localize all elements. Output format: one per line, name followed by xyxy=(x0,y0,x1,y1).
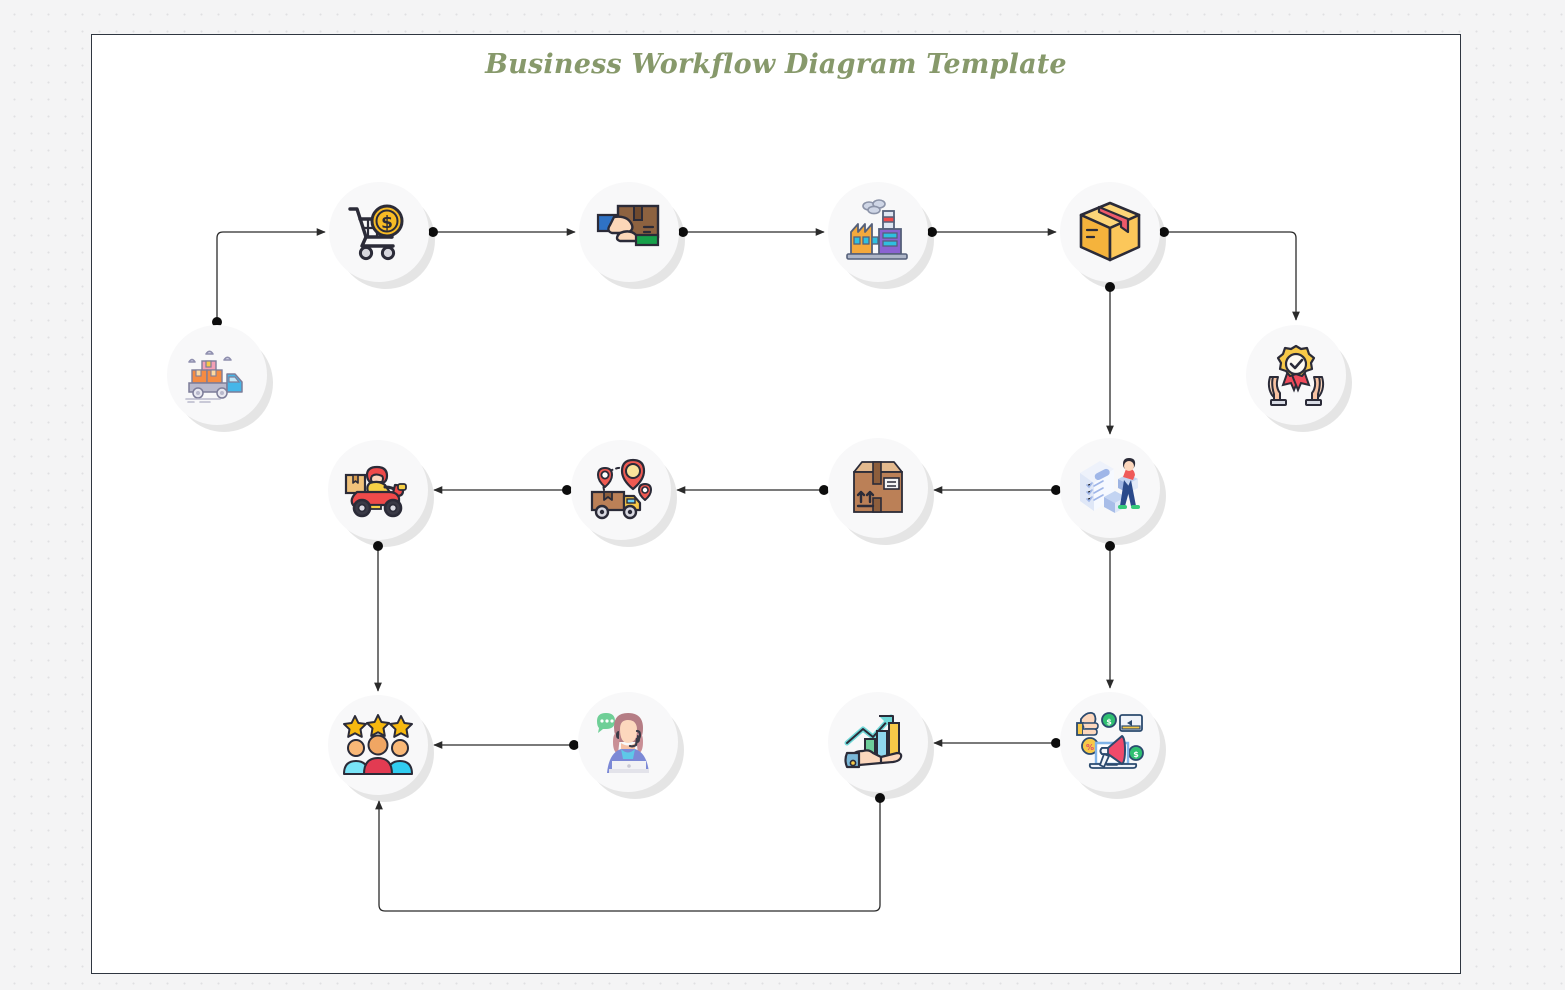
node-quality-assurance[interactable] xyxy=(1246,325,1346,425)
inventory-checklist-icon xyxy=(1074,455,1146,521)
node-route-tracking[interactable] xyxy=(571,440,671,540)
support-agent-headset-icon xyxy=(593,711,663,773)
hands-exchanging-package-icon xyxy=(596,203,662,261)
diagram-canvas: Business Workflow Diagram Template xyxy=(91,34,1461,974)
factory-icon xyxy=(843,199,913,265)
shipping-box-brown-icon xyxy=(846,458,910,518)
node-inventory-management[interactable] xyxy=(1060,438,1160,538)
svg-text:$: $ xyxy=(1106,718,1112,727)
node-digital-marketing[interactable]: $ % $ xyxy=(1060,692,1160,792)
cardboard-box-yellow-icon xyxy=(1077,199,1143,265)
node-online-order[interactable]: $ xyxy=(329,182,429,282)
node-customer-satisfaction[interactable] xyxy=(328,695,428,795)
laptop-megaphone-marketing-icon: $ % $ xyxy=(1074,709,1146,775)
three-stars-people-icon xyxy=(342,714,414,776)
hand-bar-chart-growth-icon xyxy=(843,711,913,773)
shopping-cart-dollar-icon: $ xyxy=(346,201,412,263)
node-order-handoff[interactable] xyxy=(579,182,679,282)
page-title: Business Workflow Diagram Template xyxy=(92,49,1460,80)
node-customer-support[interactable] xyxy=(578,692,678,792)
quality-badge-hands-icon xyxy=(1262,343,1330,407)
node-last-mile-delivery[interactable] xyxy=(328,440,428,540)
truck-location-pins-icon xyxy=(586,458,656,522)
delivery-truck-with-boxes-icon xyxy=(180,344,254,406)
node-manufacturing[interactable] xyxy=(828,182,928,282)
delivery-scooter-icon xyxy=(343,459,413,521)
svg-text:$: $ xyxy=(1133,750,1139,759)
node-warehouse-box[interactable] xyxy=(828,438,928,538)
node-shipping-truck[interactable] xyxy=(167,325,267,425)
node-packaging[interactable] xyxy=(1060,182,1160,282)
node-business-growth[interactable] xyxy=(828,692,928,792)
svg-text:$: $ xyxy=(381,213,393,233)
svg-text:%: % xyxy=(1086,743,1094,752)
